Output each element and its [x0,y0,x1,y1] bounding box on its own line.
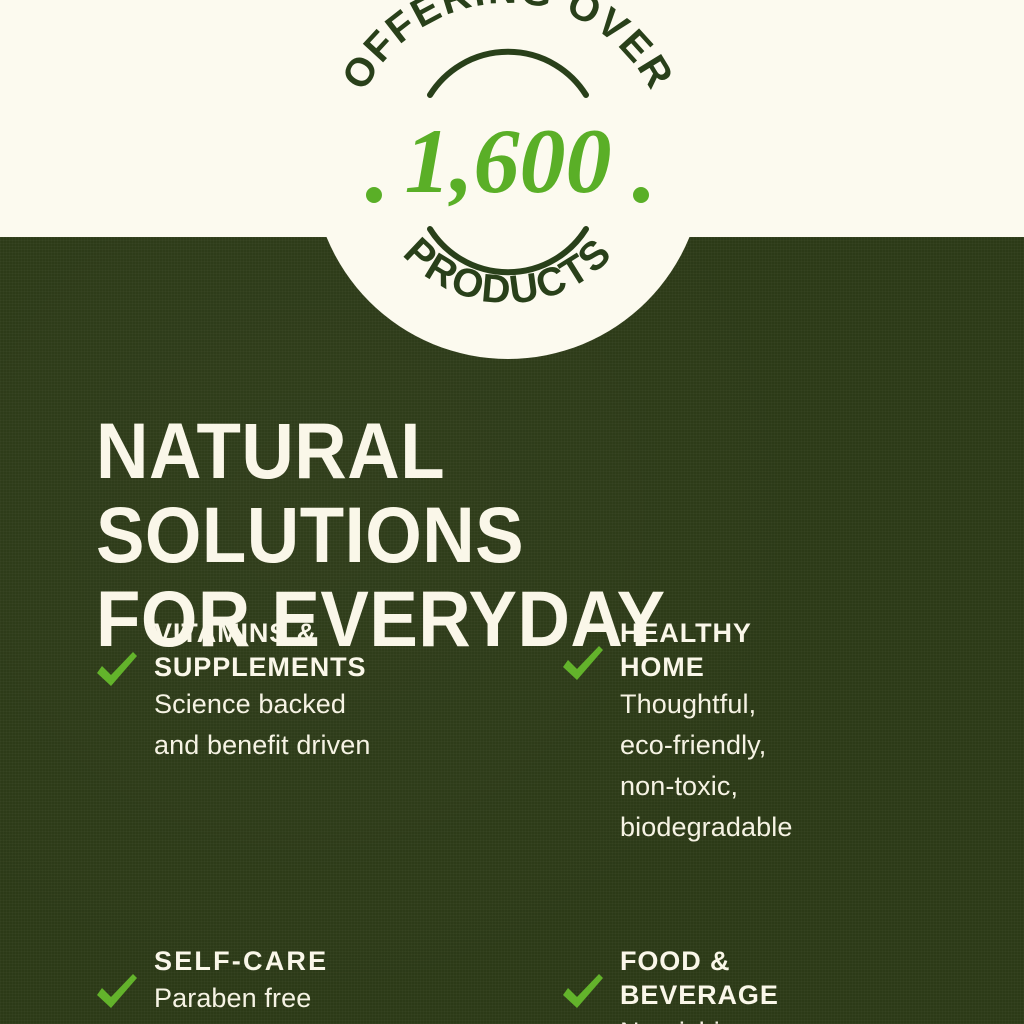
check-icon [560,970,606,1016]
feature-item-food-beverage: FOOD & BEVERAGE Nourishing, natural, who… [14,942,560,1024]
seal-top-arc-text: OFFERING OVER [334,0,683,97]
feature-list: VITAMINS & SUPPLEMENTS Science backed an… [0,614,1024,1024]
feature-title: FOOD & BEVERAGE [620,944,779,1012]
feature-row-2: SELF-CARE Paraben free and cruelty free … [0,942,1024,1024]
check-icon [560,642,606,688]
offering-over-seal: OFFERING OVER PRODUCTS 1,600 [312,0,704,359]
seal-arc-upper [430,52,586,95]
feature-description: Thoughtful, eco-friendly, non-toxic, bio… [620,684,792,848]
seal-dot-left [366,187,382,203]
feature-description: Nourishing, natural, wholesome [620,1012,779,1024]
feature-item-healthy-home: HEALTHY HOME Thoughtful, eco-friendly, n… [14,614,560,848]
feature-title: HEALTHY HOME [620,616,792,684]
seal-product-count: 1,600 [405,110,612,212]
feature-text: FOOD & BEVERAGE Nourishing, natural, who… [620,942,779,1024]
seal-dot-right [633,187,649,203]
feature-row-1: VITAMINS & SUPPLEMENTS Science backed an… [0,614,1024,848]
feature-text: HEALTHY HOME Thoughtful, eco-friendly, n… [620,614,792,848]
poster-root: OFFERING OVER PRODUCTS 1,600 NATURAL SOL… [0,0,1024,1024]
